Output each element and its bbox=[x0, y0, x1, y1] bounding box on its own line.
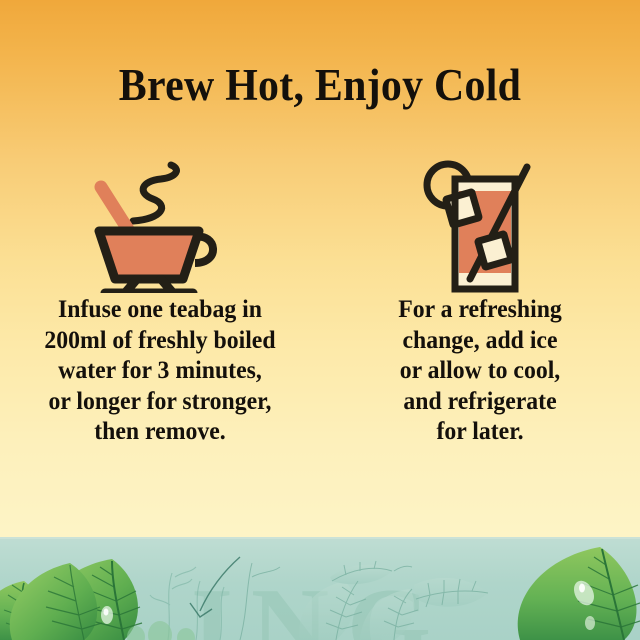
instruction-text-cold: For a refreshing change, add ice or allo… bbox=[356, 295, 605, 448]
instruction-line: For a refreshing bbox=[356, 295, 605, 326]
instruction-line: or longer for stronger, bbox=[18, 387, 303, 418]
instruction-line: water for 3 minutes, bbox=[18, 356, 303, 387]
leaf-illustration-group bbox=[0, 537, 640, 640]
instruction-line: and refrigerate bbox=[356, 387, 605, 418]
iced-drink-icon-slot bbox=[415, 150, 545, 295]
instruction-columns: Infuse one teabag in 200ml of freshly bo… bbox=[0, 150, 640, 480]
instruction-line: 200ml of freshly boiled bbox=[18, 326, 303, 357]
teacup-with-steam-icon bbox=[85, 153, 235, 293]
instruction-line: then remove. bbox=[18, 417, 303, 448]
instruction-column-cold: For a refreshing change, add ice or allo… bbox=[320, 150, 640, 480]
instruction-text-hot: Infuse one teabag in 200ml of freshly bo… bbox=[18, 295, 303, 448]
instruction-line: or allow to cool, bbox=[356, 356, 605, 387]
steam-squiggle-icon bbox=[133, 165, 176, 221]
spoon-icon bbox=[101, 187, 129, 231]
instruction-line: for later. bbox=[356, 417, 605, 448]
dew-drop bbox=[585, 616, 595, 630]
ice-cube-upper-icon bbox=[446, 191, 479, 224]
iced-drink-glass-icon bbox=[415, 153, 545, 293]
instruction-line: change, add ice bbox=[356, 326, 605, 357]
cup-body-icon bbox=[99, 231, 199, 279]
ice-cube-lower-icon bbox=[478, 233, 511, 266]
page-title: Brew Hot, Enjoy Cold bbox=[22, 62, 617, 109]
watermark-leaf-cluster bbox=[299, 565, 488, 640]
dew-drop-highlight bbox=[104, 609, 109, 616]
instruction-column-hot: Infuse one teabag in 200ml of freshly bo… bbox=[0, 150, 320, 480]
dew-drop-highlight bbox=[579, 584, 585, 593]
leaf-right-main bbox=[518, 547, 640, 640]
brew-instructions-poster: Brew Hot, Enjoy Cold bbox=[0, 0, 640, 640]
botanical-footer-band: ING bbox=[0, 537, 640, 640]
instruction-line: Infuse one teabag in bbox=[18, 295, 303, 326]
teacup-icon-slot bbox=[85, 150, 235, 295]
